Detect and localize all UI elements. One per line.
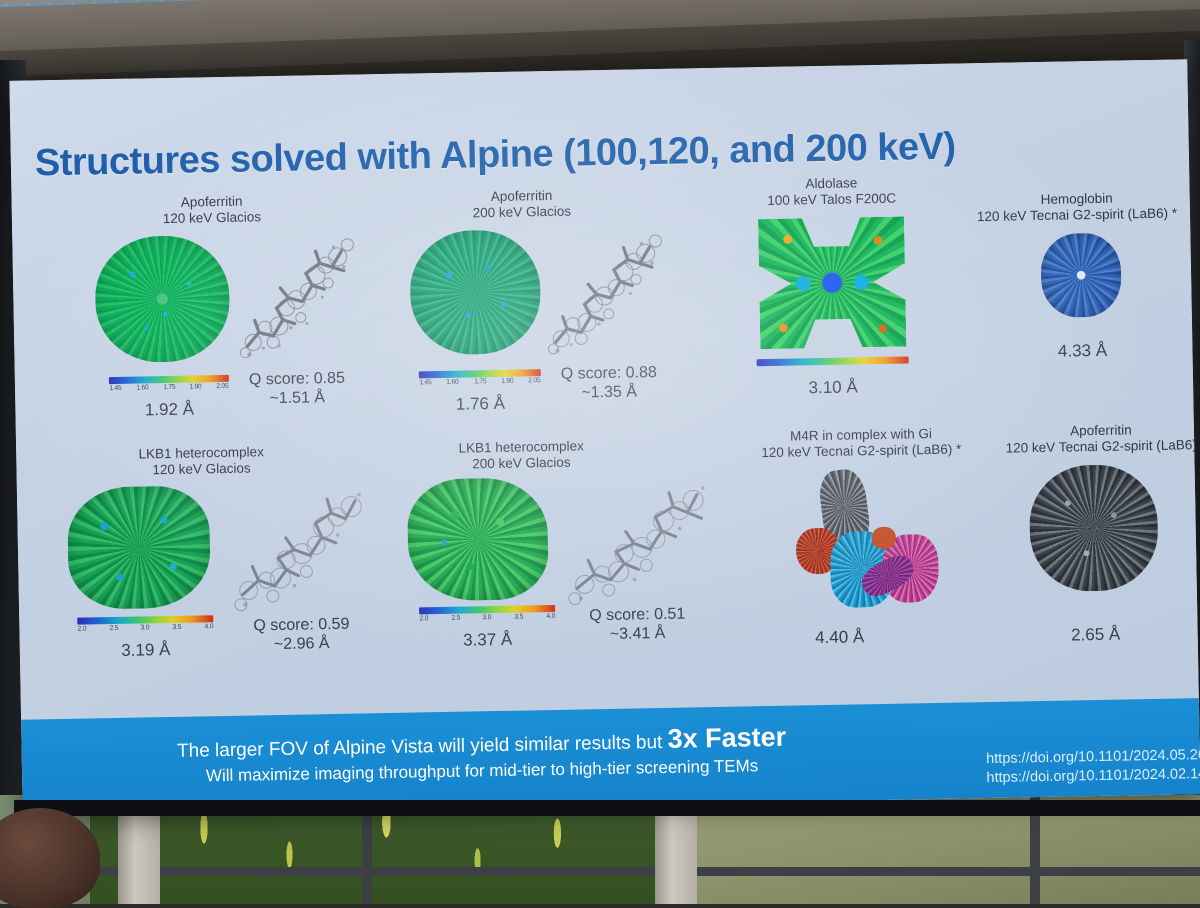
panel-instrument: 100 keV Talos F200C <box>767 190 896 207</box>
q-score-block: Q score: 0.59 ~2.96 Å <box>231 614 372 655</box>
colorbar-tick: 1.45 <box>109 385 121 392</box>
colorbar-tick: 1.75 <box>163 384 175 391</box>
resolution-value: 3.10 Å <box>757 376 909 399</box>
resolution-value: 3.19 Å <box>78 639 214 661</box>
colorbar-tick: 1.90 <box>190 383 202 390</box>
panel-name: Apoferritin <box>1070 422 1132 438</box>
slide-title: Structures solved with Alpine (100,120, … <box>34 122 1155 186</box>
colorbar-tick: 1.60 <box>447 379 459 386</box>
banner-headline-prefix: The larger FOV of Alpine Vista will yiel… <box>177 732 668 762</box>
atomic-model-backbone <box>227 227 359 359</box>
lkb1-density-map <box>407 477 549 602</box>
colorbar-ticks: 2.0 2.5 3.0 3.5 4.0 <box>77 623 213 632</box>
apoferritin-teal-density-map <box>409 229 541 355</box>
q-resolution-value: ~1.51 Å <box>269 389 325 407</box>
colorbar-tick: 1.75 <box>474 378 486 385</box>
colorbar-tick: 1.45 <box>419 379 431 386</box>
resolution-colorbar-lkb1-200kev: 2.0 2.5 3.0 3.5 4.0 <box>419 605 555 622</box>
q-score-value: Q score: 0.59 <box>253 616 349 635</box>
q-score-value: Q score: 0.51 <box>589 606 685 625</box>
panel-name: Hemoglobin <box>1041 191 1113 207</box>
apoferritin-grey-density-map <box>1029 464 1159 592</box>
q-resolution-value: ~2.96 Å <box>274 635 330 653</box>
colorbar-tick: 3.5 <box>173 624 182 631</box>
resolution-value: 4.33 Å <box>1022 340 1142 362</box>
q-score-block: Q score: 0.88 ~1.35 Å <box>539 363 680 404</box>
m4r-orange-subunit <box>872 527 896 549</box>
resolution-colorbar-apoferritin-200kev: 1.45 1.60 1.75 1.90 2.05 <box>419 369 541 386</box>
panel-name: Apoferritin <box>181 194 243 210</box>
resolution-value: 1.76 Å <box>419 393 541 415</box>
colorbar-tick: 4.0 <box>204 623 213 630</box>
panel-name: Apoferritin <box>491 188 553 204</box>
banner-headline-highlight: 3x Faster <box>667 722 786 754</box>
panel-instrument: 120 keV Glacios <box>152 460 251 477</box>
colorbar-tick: 1.60 <box>136 384 148 391</box>
colorbar-ticks: 1.45 1.60 1.75 1.90 2.05 <box>419 377 541 386</box>
apoferritin-green-density-map <box>94 235 230 363</box>
q-score-value: Q score: 0.88 <box>561 364 657 383</box>
panel-instrument: 120 keV Tecnai G2-spirit (LaB6) * <box>761 441 961 460</box>
colorbar-gradient <box>757 356 909 366</box>
panel-instrument: 200 keV Glacios <box>472 454 571 471</box>
doi-links: https://doi.org/10.1101/2024.05.26 https… <box>986 746 1200 788</box>
colorbar-tick: 3.0 <box>483 614 492 621</box>
resolution-colorbar-apoferritin-120kev: 1.45 1.60 1.75 1.90 2.05 <box>109 375 229 392</box>
resolution-colorbar-lkb1-120kev: 2.0 2.5 3.0 3.5 4.0 <box>77 615 213 632</box>
colorbar-ticks: 2.0 2.5 3.0 3.5 4.0 <box>419 613 555 622</box>
lkb1-density-map <box>67 485 211 610</box>
colorbar-tick: 3.0 <box>141 624 150 631</box>
q-resolution-value: ~1.35 Å <box>581 383 637 401</box>
projection-screen: Structures solved with Alpine (100,120, … <box>9 59 1200 815</box>
q-resolution-value: ~3.41 Å <box>610 625 666 643</box>
colorbar-tick: 2.0 <box>78 626 87 633</box>
colorbar-tick: 3.5 <box>515 614 524 621</box>
doi-link-1[interactable]: https://doi.org/10.1101/2024.05.26 <box>986 747 1200 767</box>
atomic-model-backbone <box>227 474 369 612</box>
m4r-gi-complex-density-map <box>789 468 952 621</box>
colorbar-tick: 1.90 <box>501 378 513 385</box>
panel-instrument: 200 keV Glacios <box>473 203 572 220</box>
q-score-block: Q score: 0.51 ~3.41 Å <box>567 604 708 645</box>
resolution-value: 3.37 Å <box>420 629 556 651</box>
panel-instrument: 120 keV Tecnai G2-spirit (LaB6) <box>1006 437 1197 455</box>
colorbar-tick: 2.5 <box>109 625 118 632</box>
panel-instrument: 120 keV Tecnai G2-spirit (LaB6) * <box>977 205 1177 224</box>
panel-name: LKB1 heterocomplex <box>138 444 264 461</box>
doi-link-2[interactable]: https://doi.org/10.1101/2024.02.14 <box>986 766 1200 786</box>
aldolase-density-map <box>758 216 906 349</box>
colorbar-tick: 2.5 <box>451 615 460 622</box>
presentation-slide: Structures solved with Alpine (100,120, … <box>9 59 1200 815</box>
resolution-value: 4.40 Å <box>770 626 910 649</box>
resolution-colorbar-aldolase <box>757 356 909 366</box>
window-mullion <box>0 867 1200 876</box>
q-score-block: Q score: 0.85 ~1.51 Å <box>227 368 368 409</box>
panel-name: LKB1 heterocomplex <box>458 438 584 455</box>
colorbar-tick: 4.0 <box>546 613 555 620</box>
colorbar-ticks: 1.45 1.60 1.75 1.90 2.05 <box>109 383 229 392</box>
hemoglobin-density-map <box>1040 233 1122 318</box>
q-score-value: Q score: 0.85 <box>249 370 345 389</box>
resolution-value: 2.65 Å <box>1034 624 1158 646</box>
screen-bottom-frame <box>14 800 1200 816</box>
atomic-model-backbone <box>537 221 669 353</box>
resolution-value: 1.92 Å <box>109 399 229 421</box>
atomic-model-backbone <box>565 466 712 604</box>
colorbar-tick: 2.0 <box>419 615 428 622</box>
panel-name: Aldolase <box>805 175 857 191</box>
panel-instrument: 120 keV Glacios <box>163 209 262 226</box>
